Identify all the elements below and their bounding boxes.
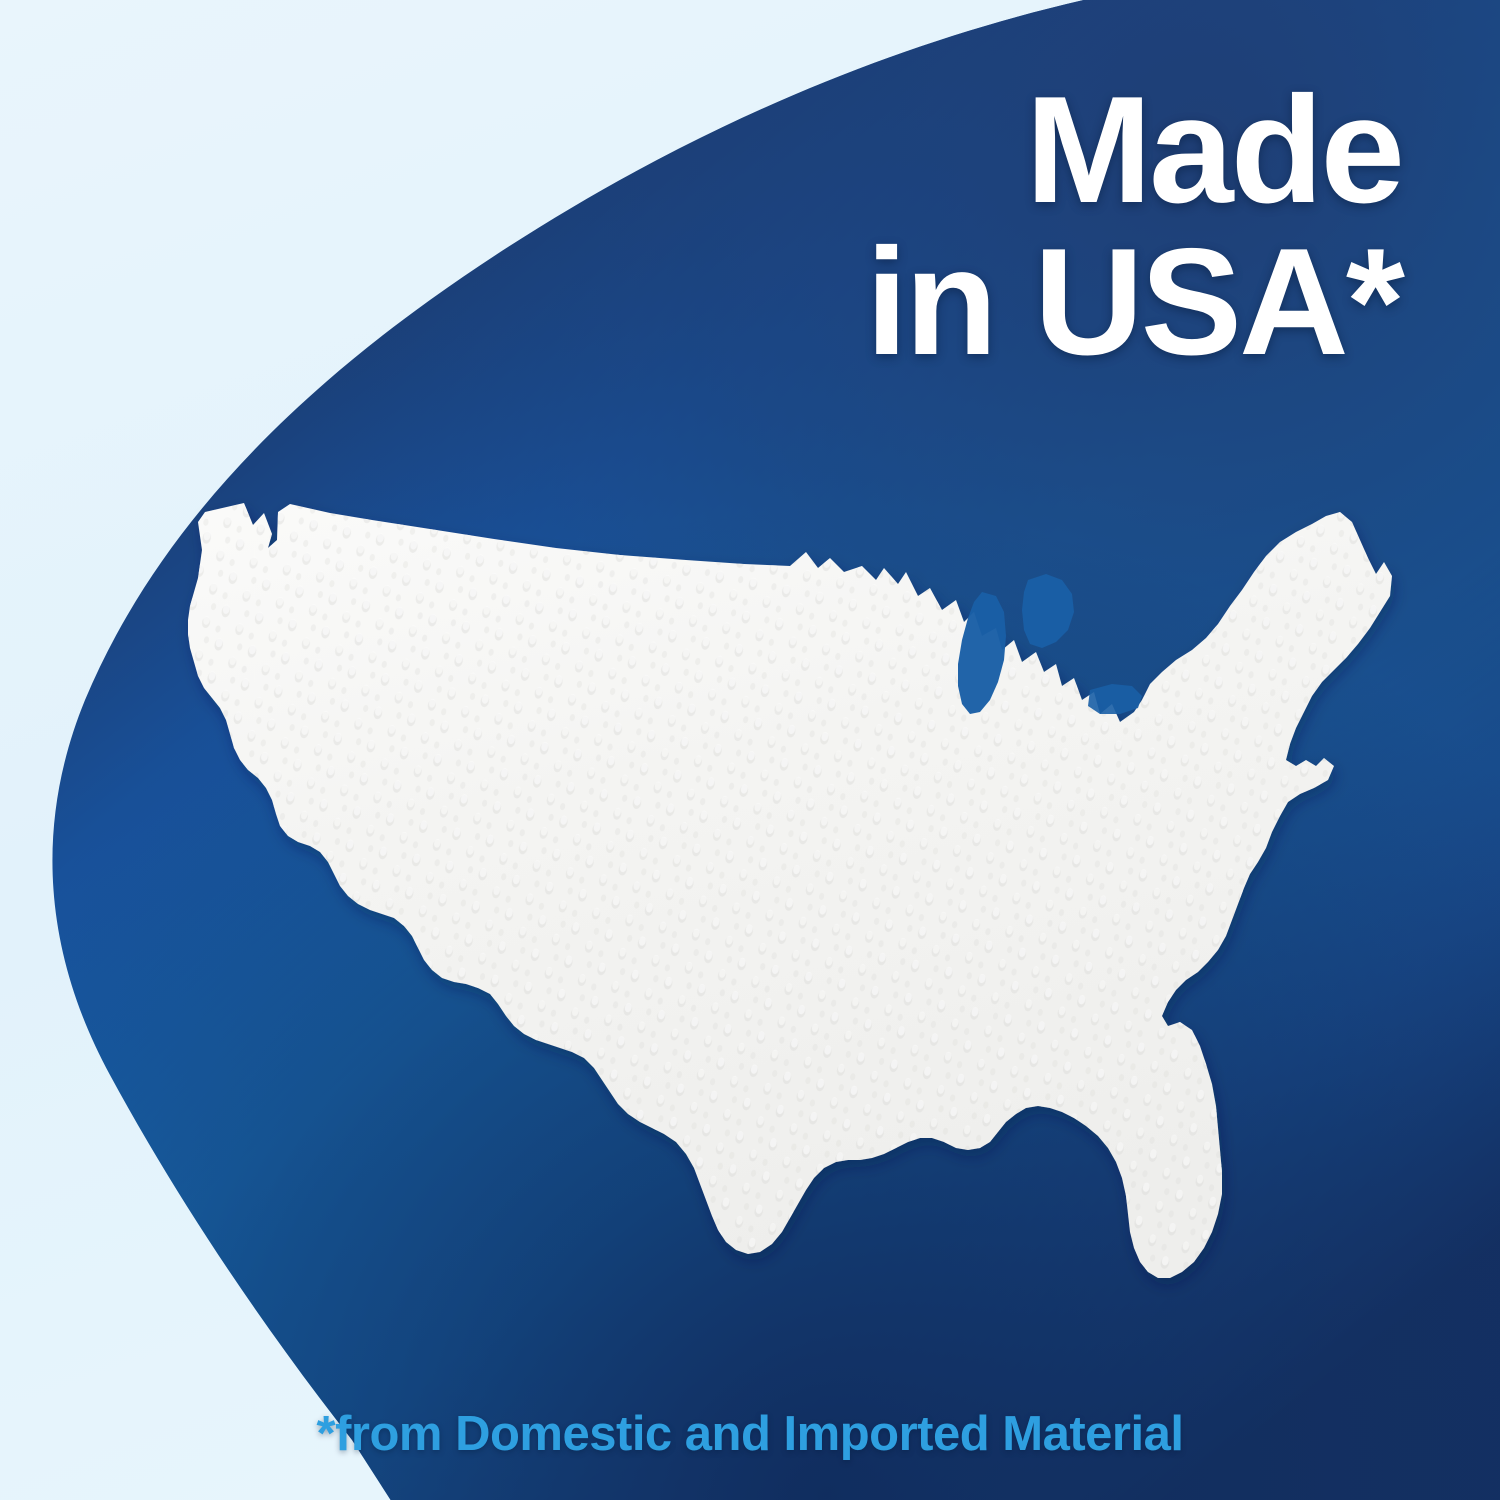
made-in-usa-graphic: Made in USA* *from Domestic and Imported…	[0, 0, 1500, 1500]
headline-block: Made in USA*	[866, 78, 1402, 376]
headline-line-in-usa: in USA*	[866, 230, 1402, 376]
footnote-text: *from Domestic and Imported Material	[0, 1406, 1500, 1462]
headline-line-made: Made	[866, 78, 1402, 224]
